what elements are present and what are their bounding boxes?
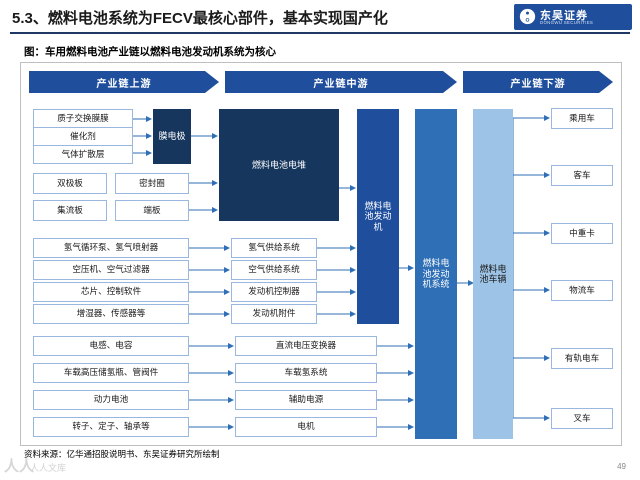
midstream-engine-accessories: 发动机附件 xyxy=(231,304,317,324)
midstream-hydrogen-supply-system: 氢气供给系统 xyxy=(231,238,317,258)
source-note: 资料来源：亿华通招股说明书、东吴证券研究所绘制 xyxy=(24,448,220,460)
band-midstream: 产业链中游 xyxy=(225,71,457,93)
downstream-type-bus: 客车 xyxy=(551,165,613,186)
upstream-item-gas-diffusion: 气体扩散层 xyxy=(33,145,133,164)
midstream-dc-converter: 直流电压变换器 xyxy=(235,336,377,356)
upstream-item-hydrogen-pump: 氢气循环泵、氢气喷射器 xyxy=(33,238,189,258)
downstream-type-passenger-car: 乘用车 xyxy=(551,108,613,129)
band-upstream-label: 产业链上游 xyxy=(29,75,219,90)
midstream-air-supply-system: 空气供给系统 xyxy=(231,260,317,280)
band-midstream-label: 产业链中游 xyxy=(225,75,457,90)
downstream-fuel-cell-vehicle: 燃料电池车辆 xyxy=(473,109,513,439)
slide-header: 5.3、燃料电池系统为FECV最核心部件，基本实现国产化 东吴证券 DONGWU… xyxy=(0,0,640,34)
watermark-text: 人人文库 xyxy=(30,461,66,474)
logo-text-en: DONGWU SECURITIES xyxy=(540,20,593,25)
upstream-item-bipolar-plate: 双极板 xyxy=(33,173,107,194)
upstream-item-end-plate: 端板 xyxy=(115,200,189,221)
upstream-item-catalyst: 催化剂 xyxy=(33,127,133,146)
figure-caption: 图：车用燃料电池产业链以燃料电池发动机系统为核心 xyxy=(24,44,276,59)
midstream-motor: 电机 xyxy=(235,417,377,437)
upstream-item-humidifier-sensor: 增湿器、传感器等 xyxy=(33,304,189,324)
upstream-item-seal-ring: 密封圈 xyxy=(115,173,189,194)
upstream-item-chip-software: 芯片、控制软件 xyxy=(33,282,189,302)
page-number: 49 xyxy=(617,462,626,471)
downstream-type-forklift: 叉车 xyxy=(551,408,613,429)
upstream-item-power-battery: 动力电池 xyxy=(33,390,189,410)
slide-page: 5.3、燃料电池系统为FECV最核心部件，基本实现国产化 东吴证券 DONGWU… xyxy=(0,0,640,480)
upstream-item-hydrogen-cylinder: 车载高压储氢瓶、管阀件 xyxy=(33,363,189,383)
upstream-item-inductor-capacitor: 电感、电容 xyxy=(33,336,189,356)
midstream-engine-controller: 发动机控制器 xyxy=(231,282,317,302)
upstream-membrane-electrode: 膜电极 xyxy=(153,109,191,164)
midstream-fuel-cell-engine: 燃料电池发动机 xyxy=(357,109,399,324)
midstream-onboard-hydrogen-system: 车载氢系统 xyxy=(235,363,377,383)
logo-mark-icon xyxy=(519,8,536,25)
upstream-item-rotor-stator: 转子、定子、轴承等 xyxy=(33,417,189,437)
title-divider xyxy=(10,32,630,34)
upstream-item-current-collector: 集流板 xyxy=(33,200,107,221)
upstream-item-proton-membrane: 质子交换膜膜 xyxy=(33,109,133,128)
downstream-type-heavy-truck: 中重卡 xyxy=(551,223,613,244)
downstream-type-tram: 有轨电车 xyxy=(551,348,613,369)
diagram-canvas: 产业链上游 产业链中游 产业链下游 质子交换膜膜 催化剂 气体扩散层 膜电极 双… xyxy=(20,62,622,446)
page-title: 5.3、燃料电池系统为FECV最核心部件，基本实现国产化 xyxy=(12,7,388,28)
band-downstream-label: 产业链下游 xyxy=(463,75,613,90)
downstream-type-logistics-vehicle: 物流车 xyxy=(551,280,613,301)
company-logo: 东吴证券 DONGWU SECURITIES xyxy=(514,4,632,30)
midstream-engine-system: 燃料电池发动机系统 xyxy=(415,109,457,439)
band-upstream: 产业链上游 xyxy=(29,71,219,93)
midstream-auxiliary-power: 辅助电源 xyxy=(235,390,377,410)
upstream-item-air-compressor: 空压机、空气过滤器 xyxy=(33,260,189,280)
midstream-fuel-cell-stack: 燃料电池电堆 xyxy=(219,109,339,221)
band-downstream: 产业链下游 xyxy=(463,71,613,93)
